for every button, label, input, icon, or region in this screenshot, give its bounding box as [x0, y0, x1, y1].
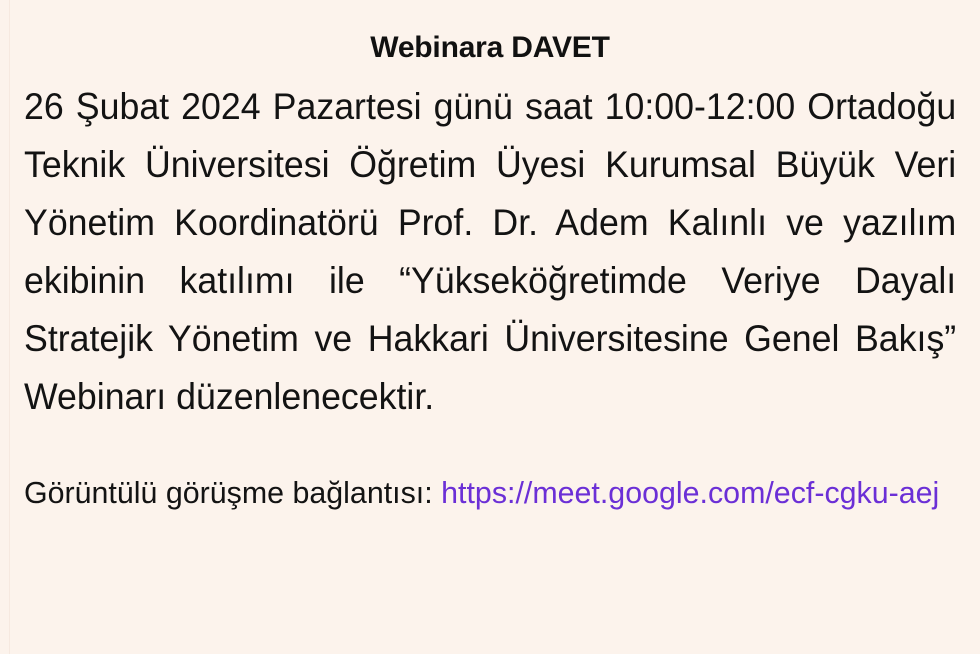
announcement-body-text: 26 Şubat 2024 Pazartesi günü saat 10:00-… [24, 70, 956, 426]
announcement-page: Webinara DAVET 26 Şubat 2024 Pazartesi g… [0, 0, 980, 654]
page-left-rule [9, 0, 10, 654]
meeting-link[interactable]: https://meet.google.com/ecf-cgku-aej [441, 475, 939, 510]
meeting-link-line: Görüntülü görüşme bağlantısı: https://me… [24, 426, 937, 516]
meeting-link-label: Görüntülü görüşme bağlantısı: [24, 475, 433, 510]
announcement-content: Webinara DAVET 26 Şubat 2024 Pazartesi g… [24, 0, 956, 654]
page-title: Webinara DAVET [24, 0, 956, 70]
